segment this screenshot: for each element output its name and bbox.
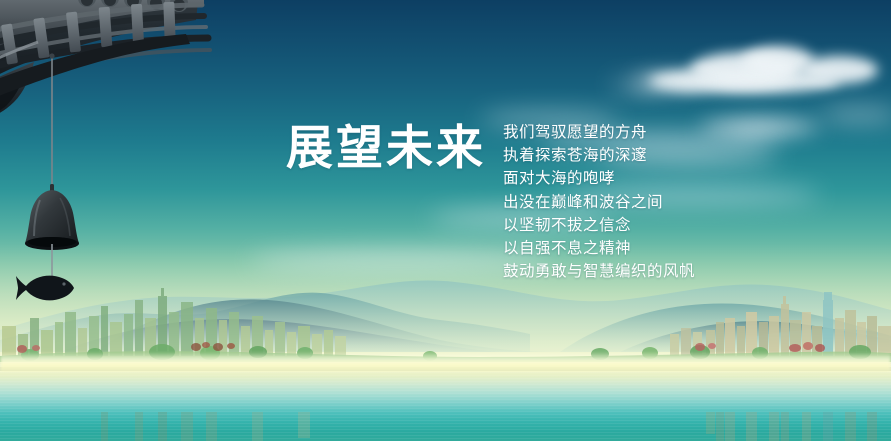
poem-line: 以坚韧不拔之信念 xyxy=(503,214,695,237)
cord-anchor xyxy=(49,53,54,58)
poem-line: 执着探索苍海的深邃 xyxy=(503,144,695,167)
poem-line: 以自强不息之精神 xyxy=(503,237,695,260)
water-reflection xyxy=(0,372,891,441)
fish-clapper xyxy=(16,276,74,301)
poem-line: 出没在巅峰和波谷之间 xyxy=(503,191,695,214)
horizon-glow xyxy=(0,352,891,372)
page-title: 展望未来 xyxy=(286,122,486,176)
poem-line: 鼓动勇敢与智慧编织的风帆 xyxy=(503,260,695,283)
promo-banner: 展望未来 我们驾驭愿望的方舟 执着探索苍海的深邃 面对大海的咆哮 出没在巅峰和波… xyxy=(0,0,891,441)
poem-block: 我们驾驭愿望的方舟 执着探索苍海的深邃 面对大海的咆哮 出没在巅峰和波谷之间 以… xyxy=(503,121,695,283)
poem-line: 我们驾驭愿望的方舟 xyxy=(503,121,695,144)
temple-roof-eave xyxy=(0,0,250,314)
poem-line: 面对大海的咆哮 xyxy=(503,167,695,190)
wind-bell xyxy=(25,184,79,250)
water-surface xyxy=(0,372,891,441)
